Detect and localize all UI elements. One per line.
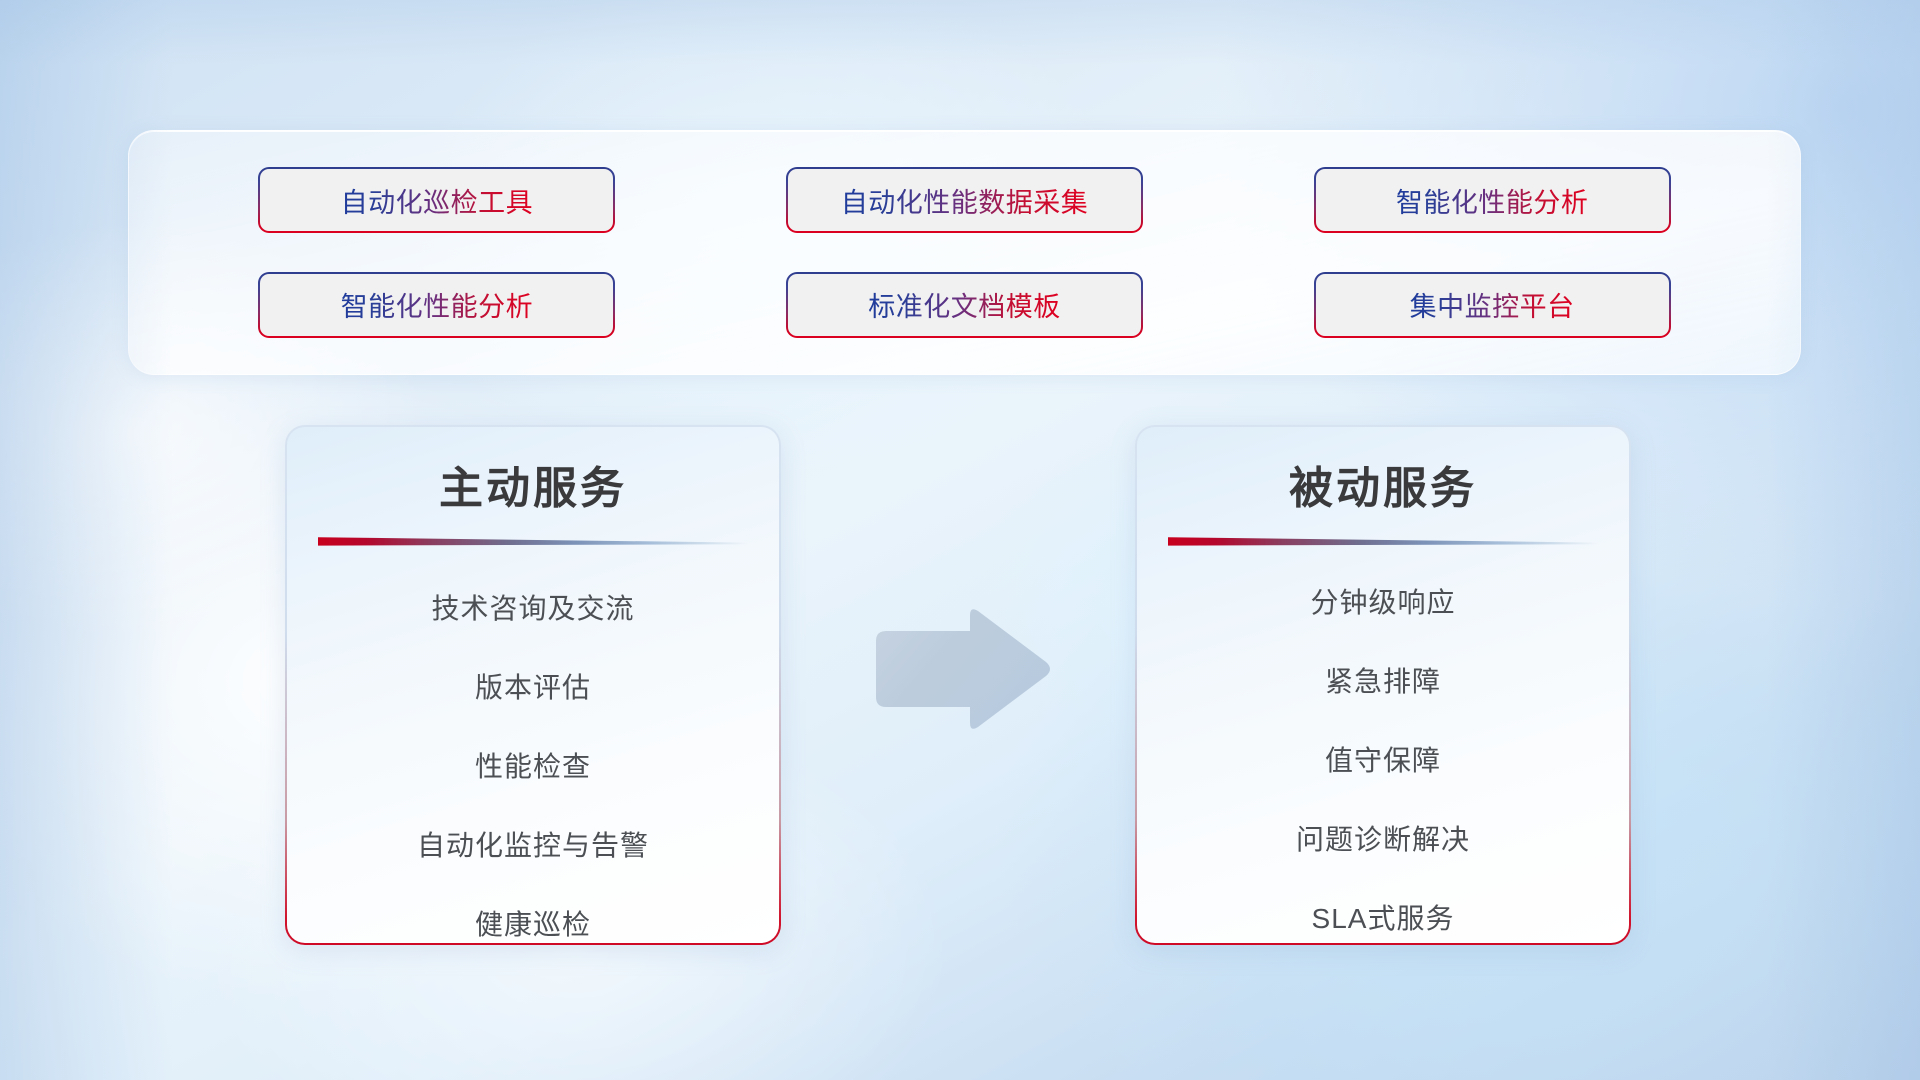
title-divider-left bbox=[318, 534, 748, 547]
capability-pill-3-label: 智能化性能分析 bbox=[1396, 181, 1589, 220]
capability-pill-2-label: 自动化性能数据采集 bbox=[841, 181, 1089, 220]
list-item[interactable]: 健康巡检 bbox=[475, 897, 591, 953]
capability-pill-4[interactable]: 智能化性能分析 bbox=[258, 272, 615, 338]
capability-pill-4-surface: 智能化性能分析 bbox=[260, 274, 613, 336]
service-card-proactive-items: 技术咨询及交流 版本评估 性能检查 自动化监控与告警 健康巡检 bbox=[321, 575, 745, 976]
capability-pill-6-surface: 集中监控平台 bbox=[1316, 274, 1669, 336]
list-item[interactable]: 分钟级响应 bbox=[1310, 575, 1455, 631]
list-item[interactable]: 自动化监控与告警 bbox=[417, 818, 649, 874]
service-card-reactive[interactable]: 被动服务 bbox=[1135, 425, 1631, 945]
capability-pill-1-label: 自动化巡检工具 bbox=[341, 181, 534, 220]
capability-pill-grid: 自动化巡检工具 自动化性能数据采集 智能化性能分析 智能化性能分析 bbox=[129, 131, 1800, 374]
capability-pill-2[interactable]: 自动化性能数据采集 bbox=[786, 167, 1143, 233]
capability-pill-4-label: 智能化性能分析 bbox=[341, 285, 534, 324]
service-card-proactive-title: 主动服务 bbox=[439, 463, 627, 516]
capability-pill-1[interactable]: 自动化巡检工具 bbox=[258, 167, 615, 233]
service-card-reactive-surface: 被动服务 bbox=[1137, 427, 1629, 943]
capability-pill-6-label: 集中监控平台 bbox=[1410, 285, 1575, 324]
capability-pill-5[interactable]: 标准化文档模板 bbox=[786, 272, 1143, 338]
capability-pill-5-label: 标准化文档模板 bbox=[868, 285, 1061, 324]
list-item[interactable]: 值守保障 bbox=[1325, 733, 1441, 789]
service-card-proactive[interactable]: 主动服务 bbox=[285, 425, 781, 945]
list-item[interactable]: 问题诊断解决 bbox=[1296, 812, 1470, 868]
list-item[interactable]: 性能检查 bbox=[475, 739, 591, 795]
capability-panel: 自动化巡检工具 自动化性能数据采集 智能化性能分析 智能化性能分析 bbox=[128, 130, 1801, 375]
list-item[interactable]: 紧急排障 bbox=[1325, 654, 1441, 710]
capability-pill-3[interactable]: 智能化性能分析 bbox=[1314, 167, 1671, 233]
service-card-proactive-surface: 主动服务 bbox=[287, 427, 779, 943]
capability-pill-5-surface: 标准化文档模板 bbox=[788, 274, 1141, 336]
slide-canvas: 自动化巡检工具 自动化性能数据采集 智能化性能分析 智能化性能分析 bbox=[0, 0, 1920, 1080]
arrow-right-icon bbox=[870, 605, 1055, 735]
capability-pill-6[interactable]: 集中监控平台 bbox=[1314, 272, 1671, 338]
capability-pill-3-surface: 智能化性能分析 bbox=[1316, 169, 1669, 231]
list-item[interactable]: 版本评估 bbox=[475, 660, 591, 716]
service-card-reactive-items: 分钟级响应 紧急排障 值守保障 问题诊断解决 SLA式服务 bbox=[1171, 575, 1595, 970]
service-card-reactive-title: 被动服务 bbox=[1289, 463, 1477, 516]
capability-pill-2-surface: 自动化性能数据采集 bbox=[788, 169, 1141, 231]
capability-pill-1-surface: 自动化巡检工具 bbox=[260, 169, 613, 231]
title-divider-right bbox=[1168, 534, 1598, 547]
list-item[interactable]: 技术咨询及交流 bbox=[431, 581, 634, 637]
list-item[interactable]: SLA式服务 bbox=[1312, 891, 1455, 947]
